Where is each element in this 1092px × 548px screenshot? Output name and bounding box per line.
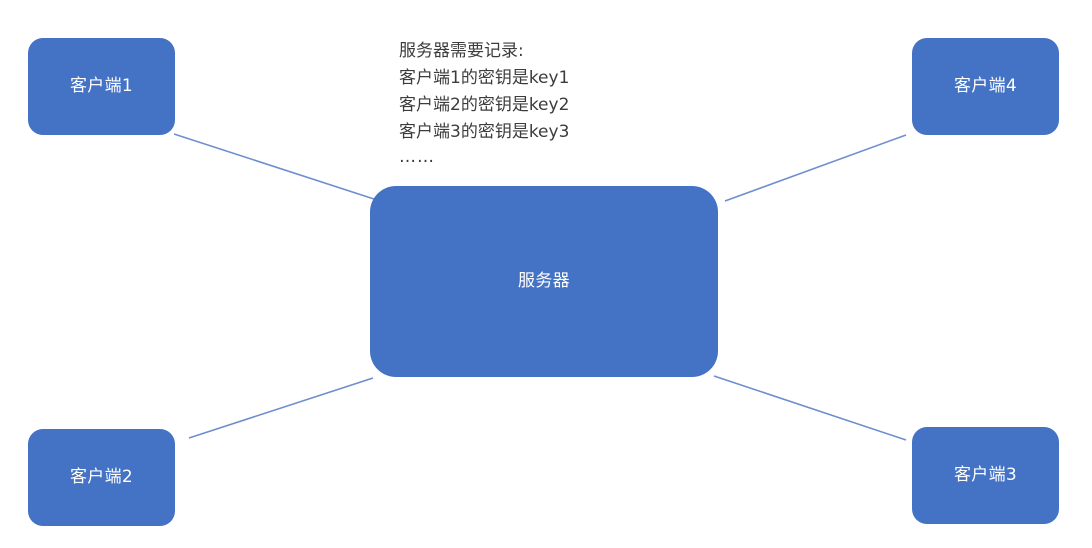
note-line-key3: 客户端3的密钥是key3 — [399, 119, 569, 146]
node-client4-label: 客户端4 — [954, 76, 1017, 96]
connector-server-client4 — [725, 135, 906, 201]
note-line-title: 服务器需要记录: — [399, 38, 569, 65]
note-line-key2: 客户端2的密钥是key2 — [399, 92, 569, 119]
note-line-ellipsis: …… — [399, 146, 569, 168]
node-client4[interactable]: 客户端4 — [912, 38, 1059, 135]
server-record-note: 服务器需要记录: 客户端1的密钥是key1 客户端2的密钥是key2 客户端3的… — [399, 38, 569, 168]
node-client3[interactable]: 客户端3 — [912, 427, 1059, 524]
connector-client2-server — [189, 378, 373, 438]
note-line-key1: 客户端1的密钥是key1 — [399, 65, 569, 92]
node-server[interactable]: 服务器 — [370, 186, 718, 377]
connector-client1-server — [174, 134, 377, 200]
diagram-canvas: 客户端1 客户端4 客户端2 客户端3 服务器 服务器需要记录: 客户端1的密钥… — [0, 0, 1092, 548]
node-client2-label: 客户端2 — [70, 467, 133, 487]
node-client3-label: 客户端3 — [954, 465, 1017, 485]
connector-server-client3 — [714, 376, 906, 440]
node-client1[interactable]: 客户端1 — [28, 38, 175, 135]
node-client1-label: 客户端1 — [70, 76, 133, 96]
node-client2[interactable]: 客户端2 — [28, 429, 175, 526]
node-server-label: 服务器 — [518, 271, 570, 291]
